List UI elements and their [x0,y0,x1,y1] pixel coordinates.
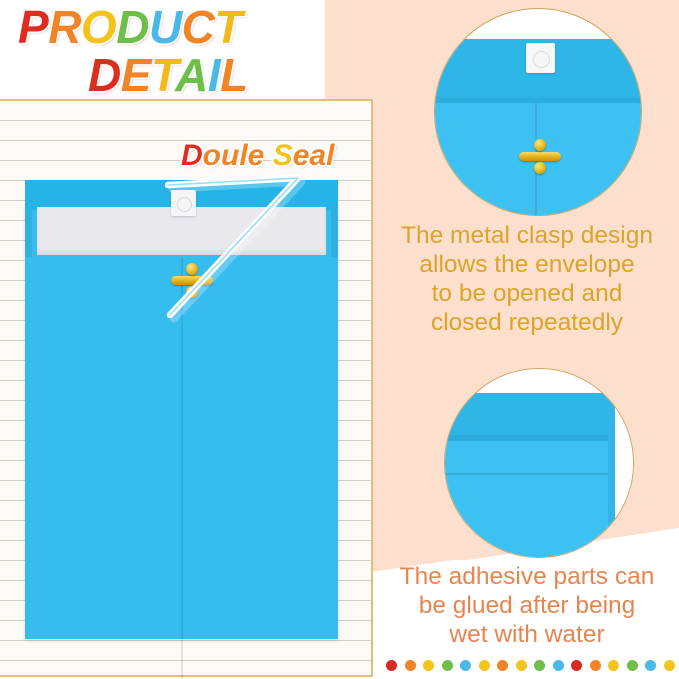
letter-4: I [208,49,220,101]
decorative-dot [627,660,638,671]
decorative-dot-strip [386,657,679,673]
title-line-product: PRODUCT [0,4,325,50]
letter-2: u [221,139,239,172]
decorative-dot [664,660,675,671]
decorative-dot [645,660,656,671]
decorative-dot [553,660,564,671]
letter-5: C [182,1,215,53]
letter-9: l [326,139,334,172]
header-block: PRODUCT DETAIL [0,0,325,98]
decorative-dot [405,660,416,671]
envelope-left-edge [25,205,32,257]
letter-4: e [248,139,265,172]
decorative-dot [516,660,527,671]
page-title: PRODUCT DETAIL [0,4,325,98]
letter-7: e [293,139,310,172]
letter-2: T [151,49,175,101]
letter-3: D [116,1,149,53]
letter-1: R [48,1,81,53]
clasp-closeup-photo [434,8,642,216]
decorative-dot [423,660,434,671]
letter-1: E [121,49,151,101]
decorative-dot [460,660,471,671]
closeup2-flap-fold [444,435,615,441]
letter-5: L [220,49,248,101]
letter-6: T [214,1,242,53]
closeup-clasp-bar [519,152,561,161]
letter-3: l [239,139,247,172]
decorative-dot [534,660,545,671]
closeup-clasp-prong-top [534,139,546,151]
clasp-feature-text: The metal clasp design allows the envelo… [378,222,676,338]
decorative-dot [608,660,619,671]
letter-4: U [149,1,182,53]
decorative-dot [497,660,508,671]
letter-8: a [309,139,326,172]
closeup2-adhesive-flap [444,393,615,435]
product-detail-page: PRODUCT DETAIL Doule Seal [0,0,679,679]
adhesive-closeup-photo [444,368,634,558]
decorative-dot [479,660,490,671]
closeup-flap-tab [526,43,555,73]
decorative-dot [386,660,397,671]
adhesive-feature-text: The adhesive parts can be glued after be… [378,563,676,650]
letter-2: O [81,1,116,53]
letter-0: D [88,49,121,101]
letter-0: P [18,1,48,53]
letter-1: o [203,139,221,172]
closeup2-seam [444,473,615,475]
letter-6: S [273,139,293,172]
decorative-dot [442,660,453,671]
envelope-right-edge [331,205,338,257]
decorative-dot [571,660,582,671]
closeup-metal-clasp-icon [519,139,561,173]
letter-3: A [175,49,208,101]
closeup-clasp-prong-bottom [534,162,546,174]
decorative-dot [590,660,601,671]
doule-seal-label: Doule Seal [181,139,334,173]
title-line-detail: DETAIL [0,52,325,98]
letter-0: D [181,139,203,172]
pointer-arrow-icon [165,175,310,325]
letter-5 [264,139,272,172]
closeup2-right-edge [608,389,615,558]
